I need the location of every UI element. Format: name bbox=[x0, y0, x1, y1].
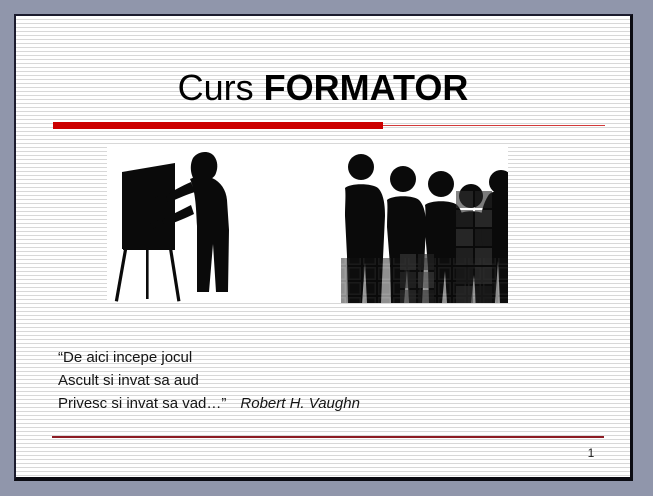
quote-line-3: Privesc si invat sa vad…”Robert H. Vaugh… bbox=[58, 392, 588, 415]
title-bold-text: FORMATOR bbox=[264, 67, 469, 108]
slide-viewer: Curs FORMATOR bbox=[0, 0, 653, 496]
footer-rule bbox=[52, 436, 604, 438]
quote-line-3-text: Privesc si invat sa vad…” bbox=[58, 395, 226, 412]
page-number: 1 bbox=[576, 446, 606, 460]
quote-attribution: Robert H. Vaughn bbox=[226, 395, 360, 412]
slide-image-trainer-and-group bbox=[107, 146, 508, 303]
quote-line-1: “De aici incepe jocul bbox=[58, 346, 588, 369]
accent-rule-thick-segment bbox=[53, 122, 383, 129]
silhouette-illustration bbox=[107, 146, 508, 303]
slide-title: Curs FORMATOR bbox=[16, 68, 630, 108]
title-regular-text: Curs bbox=[178, 67, 264, 108]
accent-rule-thin-segment bbox=[383, 125, 605, 126]
quote-block: “De aici incepe jocul Ascult si invat sa… bbox=[58, 346, 588, 415]
presentation-slide: Curs FORMATOR bbox=[14, 14, 633, 481]
quote-line-2: Ascult si invat sa aud bbox=[58, 369, 588, 392]
title-accent-rule bbox=[53, 120, 605, 129]
